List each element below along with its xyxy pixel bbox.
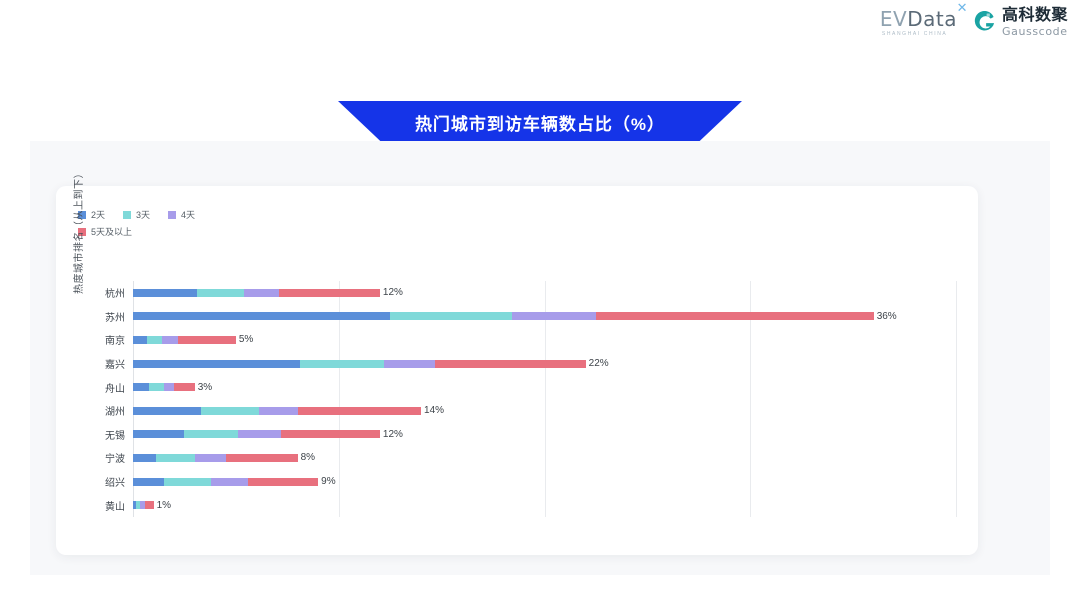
bar-segment-0[interactable] [133,312,390,320]
bar-segment-0[interactable] [133,430,184,438]
bar-value-label: 14% [421,405,444,416]
bar-segment-1[interactable] [156,454,195,462]
category-label: 舟山 [105,380,125,395]
bar-segment-0[interactable] [133,289,197,297]
bar-segment-3[interactable] [435,360,585,368]
bar-segment-2[interactable] [384,360,435,368]
bar-row[interactable]: 湖州14% [133,399,956,423]
bar-row[interactable]: 舟山3% [133,375,956,399]
bar-value-label: 9% [318,476,335,487]
bar-segment-0[interactable] [133,383,149,391]
bar-row[interactable]: 苏州36% [133,305,956,329]
bar-segment-0[interactable] [133,407,201,415]
stacked-bar[interactable] [133,454,298,462]
bar-row[interactable]: 嘉兴22% [133,352,956,376]
bar-segment-2[interactable] [512,312,596,320]
bar-value-label: 22% [586,358,609,369]
bar-segment-3[interactable] [248,478,318,486]
category-label: 南京 [105,332,125,347]
bar-segment-3[interactable] [596,312,874,320]
bar-segment-0[interactable] [133,336,147,344]
bar-segment-2[interactable] [164,383,174,391]
bar-value-label: 8% [298,452,315,463]
bar-row[interactable]: 黄山1% [133,493,956,517]
bar-value-label: 12% [380,287,403,298]
evdata-tagline: SHANGHAI CHINA [882,32,947,37]
bar-segment-3[interactable] [226,454,298,462]
bar-value-label: 5% [236,334,253,345]
bar-value-label: 12% [380,429,403,440]
bar-segment-3[interactable] [281,430,380,438]
stacked-bar[interactable] [133,501,154,509]
bar-value-label: 3% [195,382,212,393]
bar-row[interactable]: 杭州12% [133,281,956,305]
bar-segment-0[interactable] [133,454,156,462]
stacked-bar[interactable] [133,383,195,391]
category-label: 宁波 [105,450,125,465]
gausscode-en-name: Gausscode [1002,26,1068,37]
evdata-logo: EVData ✕ SHANGHAI CHINA [880,9,957,37]
category-label: 绍兴 [105,474,125,489]
bar-segment-1[interactable] [300,360,384,368]
bar-row[interactable]: 宁波8% [133,446,956,470]
bar-segment-1[interactable] [390,312,511,320]
category-label: 黄山 [105,498,125,513]
stacked-bar[interactable] [133,407,421,415]
gridline-3 [956,281,957,517]
bar-row[interactable]: 南京5% [133,328,956,352]
page-title-banner: 热门城市到访车辆数占比（%） [338,101,742,143]
evdata-data-text: Data [907,7,957,31]
gausscode-cn-name: 高科数聚 [1002,8,1068,24]
stacked-bar[interactable] [133,478,318,486]
bar-segment-2[interactable] [238,430,281,438]
stacked-bar[interactable] [133,312,874,320]
brand-logo-bar: EVData ✕ SHANGHAI CHINA 高科数聚 Gausscode [880,8,1068,37]
bar-segment-3[interactable] [145,501,153,509]
bar-segment-2[interactable] [259,407,298,415]
stacked-bar[interactable] [133,430,380,438]
bar-rows: 杭州12%苏州36%南京5%嘉兴22%舟山3%湖州14%无锡12%宁波8%绍兴9… [133,281,956,517]
stacked-bar[interactable] [133,289,380,297]
category-label: 嘉兴 [105,356,125,371]
bar-row[interactable]: 无锡12% [133,423,956,447]
evdata-ev-text: EV [880,7,907,31]
category-label: 苏州 [105,309,125,324]
bar-segment-2[interactable] [211,478,248,486]
stacked-bar-chart: 热度城市排名（从上到下） 杭州12%苏州36%南京5%嘉兴22%舟山3%湖州14… [56,186,978,555]
stacked-bar[interactable] [133,336,236,344]
category-label: 杭州 [105,285,125,300]
chart-card: 2天 3天 4天 5天及以上 热度城市排名（从上到下） 杭州12%苏州36%南京… [56,186,978,555]
plot-area: 杭州12%苏州36%南京5%嘉兴22%舟山3%湖州14%无锡12%宁波8%绍兴9… [133,281,956,517]
bar-segment-2[interactable] [244,289,279,297]
bar-segment-3[interactable] [178,336,236,344]
bar-segment-0[interactable] [133,360,300,368]
evdata-wordmark: EVData ✕ [880,9,957,29]
bar-row[interactable]: 绍兴9% [133,470,956,494]
gausscode-circle-icon [973,11,996,34]
bar-segment-1[interactable] [164,478,211,486]
y-axis-title: 热度城市排名（从上到下） [70,141,85,321]
bar-value-label: 1% [154,500,171,511]
bar-segment-1[interactable] [184,430,237,438]
bar-segment-2[interactable] [195,454,226,462]
bar-segment-0[interactable] [133,478,164,486]
gausscode-logo: 高科数聚 Gausscode [973,8,1068,37]
category-label: 无锡 [105,427,125,442]
bar-value-label: 36% [874,311,897,322]
bar-segment-1[interactable] [201,407,259,415]
category-label: 湖州 [105,403,125,418]
bar-segment-3[interactable] [174,383,195,391]
bar-segment-1[interactable] [147,336,161,344]
evdata-x-icon: ✕ [957,2,968,15]
bar-segment-3[interactable] [298,407,421,415]
bar-segment-1[interactable] [149,383,163,391]
bar-segment-2[interactable] [162,336,178,344]
bar-segment-3[interactable] [279,289,380,297]
bar-segment-1[interactable] [197,289,244,297]
stacked-bar[interactable] [133,360,586,368]
